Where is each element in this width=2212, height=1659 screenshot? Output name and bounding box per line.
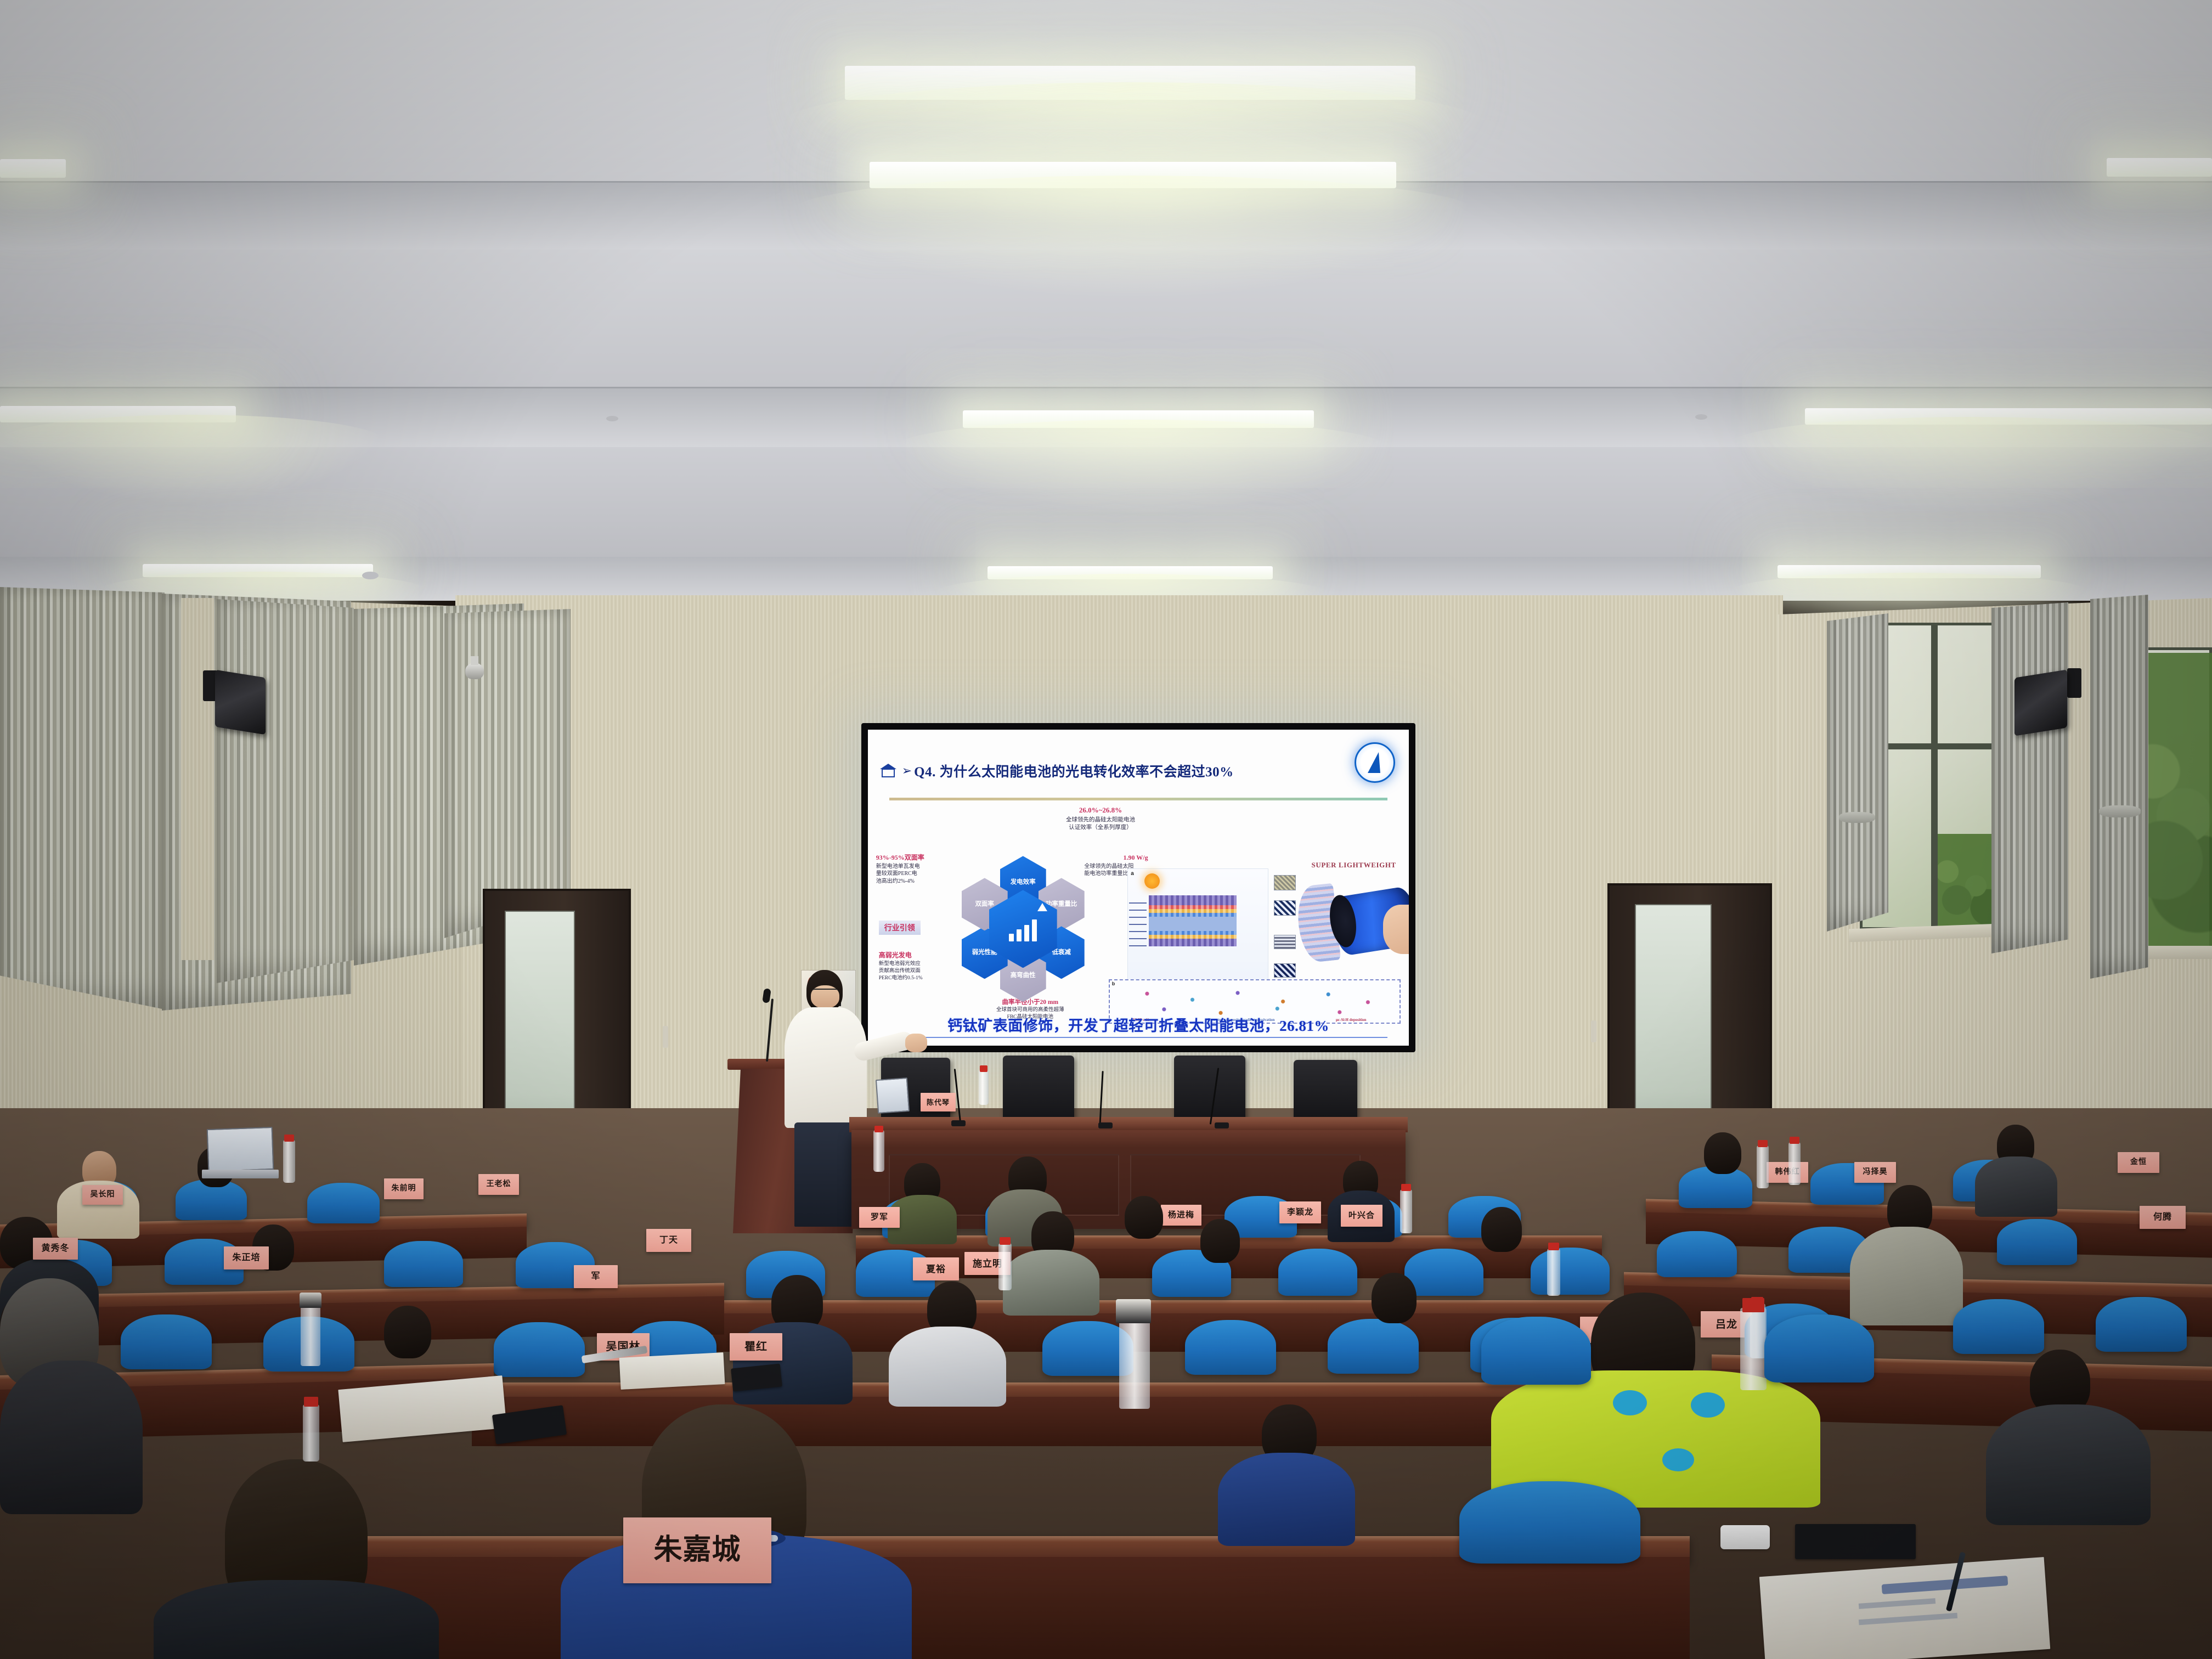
screen-surface: ➢ Q4. 为什么太阳能电池的光电转化效率不会超过30% 26.0%~26.8%… xyxy=(868,730,1409,1046)
audience-chair[interactable] xyxy=(1278,1249,1357,1296)
water-bottle[interactable] xyxy=(998,1243,1012,1290)
head-table-chair[interactable] xyxy=(1003,1056,1074,1125)
figure-a-device-schematic: a xyxy=(1127,868,1268,995)
ceiling-sensor xyxy=(606,416,618,421)
ceiling-light-panel xyxy=(988,566,1273,579)
nameplate: 金恒 xyxy=(2118,1152,2159,1173)
shirt-dot xyxy=(1662,1448,1694,1471)
audience-chair[interactable] xyxy=(1531,1248,1610,1295)
insulated-tumbler[interactable] xyxy=(1119,1317,1150,1409)
ceiling-band-2 xyxy=(0,250,2212,387)
water-bottle[interactable] xyxy=(1400,1189,1412,1233)
audience-head xyxy=(1481,1207,1522,1252)
sun-icon xyxy=(1144,873,1160,889)
ceiling-light-panel xyxy=(1778,565,2041,578)
nameplate: 冯择昊 xyxy=(1854,1162,1896,1183)
presenter-hand xyxy=(905,1034,927,1052)
led-presentation-screen[interactable]: ➢ Q4. 为什么太阳能电池的光电转化效率不会超过30% 26.0%~26.8%… xyxy=(861,723,1415,1052)
foreground-person-torso xyxy=(0,1361,143,1514)
audience-torso xyxy=(1975,1156,2057,1217)
university-logo xyxy=(1355,742,1395,783)
window-curtain-right xyxy=(1827,613,1888,932)
audience-chair[interactable] xyxy=(2096,1297,2187,1352)
presentation-slide: ➢ Q4. 为什么太阳能电池的光电转化效率不会超过30% 26.0%~26.8%… xyxy=(868,730,1409,1046)
ceiling-light-panel xyxy=(0,159,66,178)
laptop-base[interactable] xyxy=(202,1170,279,1178)
head-table-chair[interactable] xyxy=(1174,1056,1245,1125)
head-table-chair[interactable] xyxy=(1294,1060,1357,1121)
glasses-icon xyxy=(812,989,838,994)
insulated-tumbler[interactable] xyxy=(301,1305,320,1366)
audience-head xyxy=(1200,1219,1240,1263)
ceiling-light-panel xyxy=(1805,408,2212,425)
nameplate: 黄秀冬 xyxy=(33,1238,78,1260)
water-bottle[interactable] xyxy=(1788,1142,1801,1185)
presenter-shirt xyxy=(785,1007,867,1128)
audience-chair[interactable] xyxy=(1481,1317,1591,1385)
presenter-trousers xyxy=(794,1122,858,1227)
slide-badge-industry-lead: 行业引领 xyxy=(884,924,915,933)
audience-head xyxy=(1125,1196,1163,1239)
audience-chair[interactable] xyxy=(1953,1299,2044,1354)
nameplate: 吴长阳 xyxy=(82,1185,123,1205)
nameplate: 朱嘉城 xyxy=(623,1517,771,1583)
audience-torso xyxy=(889,1327,1006,1407)
audience-chair[interactable] xyxy=(1997,1219,2077,1265)
window-foliage xyxy=(2142,653,2212,949)
hexagon-diagram: 发电效率 功率重量比 低衰减 高弯曲性 弱光性能 双面率 xyxy=(957,856,1103,1001)
audience-chair[interactable] xyxy=(1657,1231,1737,1277)
water-bottle[interactable] xyxy=(979,1070,989,1105)
ceiling-light-panel xyxy=(845,66,1415,100)
ceiling-light-panel xyxy=(870,162,1396,188)
growth-chart-icon xyxy=(1009,916,1037,941)
table-microphone-base xyxy=(1098,1122,1113,1128)
water-bottle[interactable] xyxy=(1547,1249,1560,1296)
audience-head xyxy=(384,1306,431,1358)
audience-chair[interactable] xyxy=(1185,1320,1276,1375)
nameplate: 王老松 xyxy=(478,1174,519,1195)
audience-head xyxy=(1704,1132,1741,1174)
figure-a-label: a xyxy=(1131,871,1134,877)
speaker-bracket xyxy=(2067,668,2081,698)
nameplate: 夏裕 xyxy=(913,1257,959,1280)
ceiling-band-3 xyxy=(0,447,2212,557)
water-bottle[interactable] xyxy=(1757,1145,1769,1188)
microscopy-tile xyxy=(1274,935,1296,949)
nameplate: 罗军 xyxy=(859,1207,900,1228)
figure-b-label: b xyxy=(1112,981,1115,986)
curtain-tieback xyxy=(2099,805,2141,817)
audience-chair[interactable] xyxy=(121,1314,212,1369)
audience-chair[interactable] xyxy=(1328,1319,1419,1374)
nameplate: 瞿红 xyxy=(730,1333,782,1361)
figure-a-legend xyxy=(1129,896,1147,949)
earbuds-case[interactable] xyxy=(1720,1525,1770,1549)
shirt-dot xyxy=(1691,1392,1725,1418)
slide-title-row: ➢ Q4. 为什么太阳能电池的光电转化效率不会超过30% xyxy=(880,746,1393,796)
nameplate: 朱正培 xyxy=(224,1246,269,1269)
laptop[interactable] xyxy=(876,1077,910,1114)
ceiling-light-panel xyxy=(2107,158,2212,177)
curtain-tieback xyxy=(1839,812,1875,823)
right-wall-speaker xyxy=(2015,669,2067,736)
desk-front-panel xyxy=(307,1557,1690,1659)
nameplate: 何腾 xyxy=(2140,1206,2186,1229)
smartphone[interactable] xyxy=(1795,1524,1916,1559)
ceiling-sensor xyxy=(362,572,379,579)
laptop[interactable] xyxy=(207,1127,274,1172)
ceiling-sensor xyxy=(1695,414,1707,420)
audience-torso xyxy=(1850,1227,1963,1325)
window-curtain-left xyxy=(217,599,354,983)
window-curtain-right xyxy=(2090,595,2148,979)
audience-torso xyxy=(1986,1404,2151,1525)
table-microphone-base xyxy=(951,1120,966,1126)
nameplate: 李颖龙 xyxy=(1279,1201,1321,1223)
shirt-dot xyxy=(1613,1390,1647,1415)
microscopy-tile xyxy=(1274,900,1296,916)
nameplate: 叶兴合 xyxy=(1341,1205,1383,1227)
ceiling-soffit-1 xyxy=(0,181,2212,250)
window-curtain-right xyxy=(1991,602,2068,953)
nameplate: 军 xyxy=(574,1265,618,1288)
nameplate: 杨进梅 xyxy=(1161,1205,1201,1226)
audience-chair[interactable] xyxy=(1459,1481,1640,1564)
nameplate: 朱前明 xyxy=(384,1178,424,1199)
water-bottle[interactable] xyxy=(1740,1308,1767,1390)
microscopy-tile xyxy=(1274,875,1296,890)
audience-chair[interactable] xyxy=(384,1241,463,1287)
slide-stat-top: 26.0%~26.8% xyxy=(1019,805,1182,815)
bullet-arrow-icon: ➢ xyxy=(902,764,912,778)
nameplate: 丁天 xyxy=(646,1229,691,1252)
ceiling-security-camera xyxy=(465,663,484,679)
water-bottle[interactable] xyxy=(303,1404,319,1462)
microscopy-tile xyxy=(1274,963,1296,978)
audience-torso xyxy=(1003,1250,1099,1316)
nameplate: 韩伟红 xyxy=(1767,1162,1808,1183)
audience-chair[interactable] xyxy=(307,1183,380,1223)
slide-text-top: 全球领先的晶硅太阳能电池 认证效率（全系列厚度） xyxy=(1019,816,1182,832)
audience-head xyxy=(1372,1273,1417,1323)
door-handle[interactable] xyxy=(1591,1020,1596,1042)
water-bottle[interactable] xyxy=(283,1140,295,1183)
home-icon xyxy=(880,764,896,778)
camera-mount xyxy=(471,656,478,665)
audience-chair[interactable] xyxy=(1404,1249,1483,1296)
table-microphone-base xyxy=(1215,1122,1229,1128)
flexible-cell-photo xyxy=(1301,868,1409,995)
slide-divider-rule xyxy=(889,798,1387,800)
slide-title: Q4. 为什么太阳能电池的光电转化效率不会超过30% xyxy=(914,761,1233,781)
foreground-person-torso xyxy=(154,1580,439,1659)
audience-chair[interactable] xyxy=(1764,1314,1874,1383)
door-handle[interactable] xyxy=(663,1026,668,1048)
water-bottle[interactable] xyxy=(873,1130,884,1172)
window-curtain-left xyxy=(0,587,165,1009)
ceiling-light-panel xyxy=(143,564,373,577)
slide-bottom-caption: 钙钛矿表面修饰，开发了超轻可折叠太阳能电池，26.81% xyxy=(889,1014,1387,1038)
audience-chair[interactable] xyxy=(494,1322,585,1377)
left-wall-speaker xyxy=(215,670,266,735)
ceiling-light-panel xyxy=(963,410,1314,428)
left-wall-gap xyxy=(181,598,214,960)
audience-torso xyxy=(1218,1453,1355,1546)
ceiling-light-panel xyxy=(0,406,236,422)
label-super-lightweight: SUPER LIGHTWEIGHT xyxy=(1312,861,1396,870)
nameplate: 陈代琴 xyxy=(921,1093,956,1111)
handout-papers[interactable] xyxy=(619,1352,725,1390)
lecture-hall-photo: ➢ Q4. 为什么太阳能电池的光电转化效率不会超过30% 26.0%~26.8%… xyxy=(0,0,2212,1659)
